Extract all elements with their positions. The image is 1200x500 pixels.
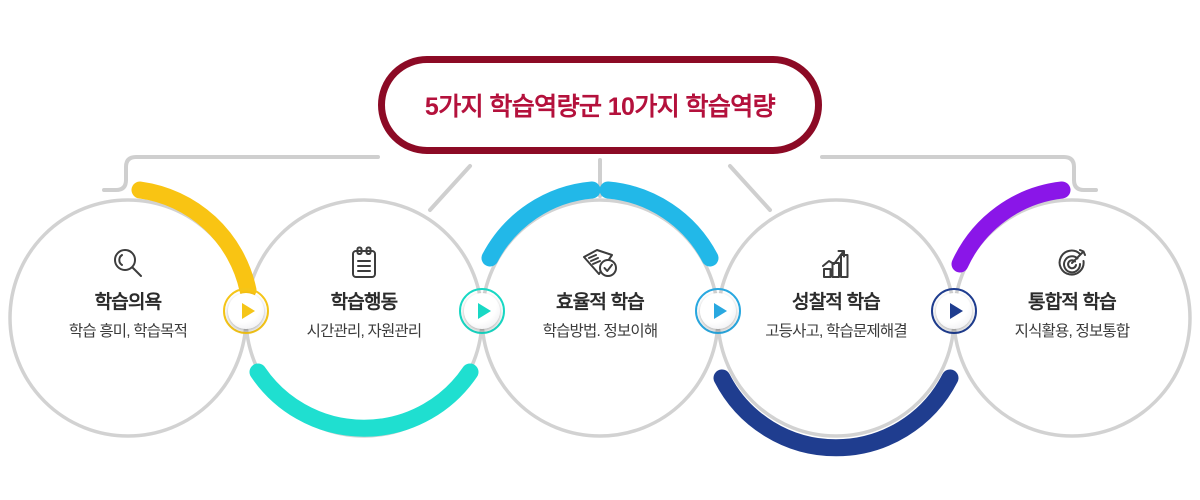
node-integrated-learning[interactable]: 통합적 학습 지식활용, 정보통합 xyxy=(962,240,1182,341)
node-subtitle: 학습 흥미, 학습목적 xyxy=(18,323,238,342)
node-learning-behavior[interactable]: 학습행동 시간관리, 자원관리 xyxy=(254,240,474,341)
node-title: 학습행동 xyxy=(254,292,474,315)
node-subtitle: 지식활용, 정보통합 xyxy=(962,323,1182,342)
node-title: 성찰적 학습 xyxy=(726,292,946,315)
connector-diagonal-left xyxy=(430,166,470,210)
node-learning-motivation[interactable]: 학습의욕 학습 흥미, 학습목적 xyxy=(18,240,238,341)
arrow-disc xyxy=(228,293,264,329)
target-icon xyxy=(962,240,1182,286)
node-title: 통합적 학습 xyxy=(962,292,1182,315)
book-check-icon xyxy=(490,240,710,286)
arrow-disc xyxy=(936,293,972,329)
magnifier-icon xyxy=(18,240,238,286)
header-pill: 5가지 학습역량군 10가지 학습역량 xyxy=(378,56,822,154)
page-title: 5가지 학습역량군 10가지 학습역량 xyxy=(425,87,775,123)
play-arrow-icon xyxy=(242,303,255,319)
arrow-connector-1[interactable] xyxy=(223,288,269,334)
node-title: 효율적 학습 xyxy=(490,292,710,315)
bar-chart-icon xyxy=(726,240,946,286)
node-title: 학습의욕 xyxy=(18,292,238,315)
node-subtitle: 학습방법. 정보이해 xyxy=(490,323,710,342)
node-reflective-learning[interactable]: 성찰적 학습 고등사고, 학습문제해결 xyxy=(726,240,946,341)
arrow-disc xyxy=(464,293,500,329)
arrow-connector-3[interactable] xyxy=(695,288,741,334)
arrow-connector-2[interactable] xyxy=(459,288,505,334)
play-arrow-icon xyxy=(714,303,727,319)
node-subtitle: 고등사고, 학습문제해결 xyxy=(726,323,946,342)
node-efficient-learning[interactable]: 효율적 학습 학습방법. 정보이해 xyxy=(490,240,710,341)
play-arrow-icon xyxy=(478,303,491,319)
node-subtitle: 시간관리, 자원관리 xyxy=(254,323,474,342)
connector-diagonal-right xyxy=(730,166,770,210)
infographic-canvas: 5가지 학습역량군 10가지 학습역량 학습의욕 학습 흥미, 학습목적 학습 xyxy=(0,0,1200,500)
arrow-disc xyxy=(700,293,736,329)
play-arrow-icon xyxy=(950,303,963,319)
arrow-connector-4[interactable] xyxy=(931,288,977,334)
clipboard-icon xyxy=(254,240,474,286)
